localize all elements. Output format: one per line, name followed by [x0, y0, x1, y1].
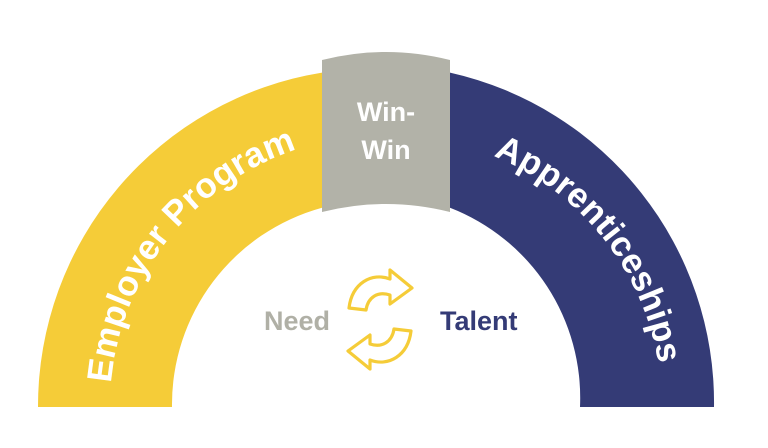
top-arrow-shape: [349, 270, 412, 310]
segment-employer-program[interactable]: Employer Program: [38, 73, 322, 407]
diagram-canvas: Employer Program Apprenticeships Win- Wi…: [0, 0, 768, 448]
keystone-label-line1: Win-: [357, 97, 415, 127]
exchange-talent-label: Talent: [440, 306, 518, 336]
keystone-block-shape: [322, 52, 450, 212]
curved-exchange-arrow-right-icon: [349, 270, 412, 310]
segment-apprenticeships[interactable]: Apprenticeships: [450, 73, 714, 407]
exchange-group: Need Talent: [264, 270, 518, 369]
arch-diagram: Employer Program Apprenticeships Win- Wi…: [0, 0, 768, 448]
curved-exchange-arrow-left-icon: [348, 329, 411, 369]
bottom-arrow-shape: [348, 329, 411, 369]
exchange-need-label: Need: [264, 306, 330, 336]
keystone-win-win[interactable]: Win- Win: [322, 52, 450, 212]
keystone-label-line2: Win: [361, 135, 410, 165]
